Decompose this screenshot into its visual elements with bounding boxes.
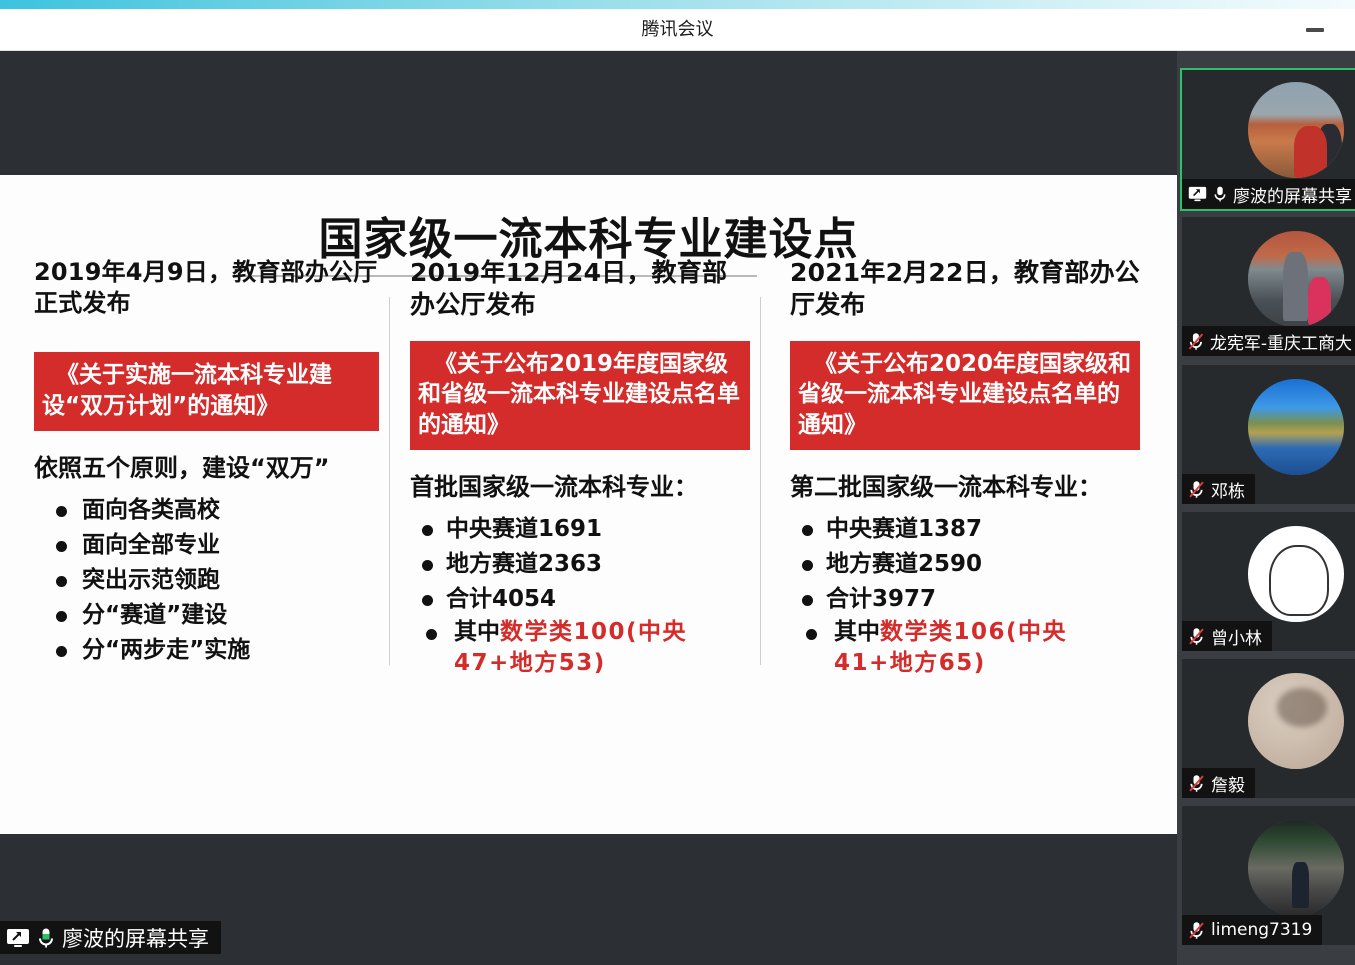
accent-gradient-strip — [0, 0, 1355, 9]
participant-namebar: 廖波的屏幕共享 — [1182, 179, 1355, 209]
mic-muted-icon — [1188, 921, 1205, 940]
participant-namebar: 曾小林 — [1182, 621, 1272, 651]
screen-share-icon — [1188, 186, 1207, 202]
list-item: 中央赛道1387 — [790, 512, 1140, 547]
tencent-meeting-window: 腾讯会议 国家级一流本科专业建设点 2019年4月9日，教育部办公厅正式发布 《… — [0, 0, 1355, 965]
participant-tile[interactable]: 廖波的屏幕共享 — [1180, 68, 1355, 211]
shared-slide: 国家级一流本科专业建设点 2019年4月9日，教育部办公厅正式发布 《关于实施一… — [0, 175, 1177, 834]
column-1-notice: 《关于实施一流本科专业建设“双万计划”的通知》 — [34, 352, 379, 431]
mic-muted-icon — [1188, 332, 1204, 351]
participant-name: 詹毅 — [1211, 771, 1245, 796]
mic-on-icon — [37, 927, 55, 949]
column-3-lead: 第二批国家级一流本科专业： — [790, 472, 1140, 502]
highlight-prefix: 其中 — [454, 619, 500, 645]
participant-tile[interactable]: limeng7319 — [1182, 806, 1355, 945]
list-item: 分“赛道”建设 — [34, 598, 379, 633]
column-1-date: 2019年4月9日，教育部办公厅正式发布 — [34, 257, 379, 318]
shared-screen-stage[interactable]: 国家级一流本科专业建设点 2019年4月9日，教育部办公厅正式发布 《关于实施一… — [0, 51, 1177, 965]
slide-column-3: 2021年2月22日，教育部办公厅发布 《关于公布2020年度国家级和省级一流本… — [790, 257, 1140, 679]
list-item: 合计4054 — [410, 582, 750, 617]
list-item: 突出示范领跑 — [34, 563, 379, 598]
column-3-bullets: 中央赛道1387 地方赛道2590 合计3977 其中数学类106(中央41+地… — [790, 512, 1140, 679]
participant-namebar: 龙宪军-重庆工商大 — [1182, 326, 1355, 356]
mic-muted-icon — [1188, 774, 1205, 793]
screen-share-badge: 廖波的屏幕共享 — [0, 921, 221, 954]
avatar — [1248, 379, 1344, 475]
column-1-lead: 依照五个原则，建设“双万” — [34, 453, 379, 483]
column-3-date: 2021年2月22日，教育部办公厅发布 — [790, 257, 1140, 321]
avatar — [1248, 820, 1344, 916]
list-item-highlight: 其中数学类106(中央41+地方65) — [790, 617, 1140, 680]
participant-name: 龙宪军-重庆工商大 — [1210, 329, 1352, 354]
avatar — [1248, 526, 1344, 622]
participant-name: 邓栋 — [1211, 477, 1245, 502]
participant-tile[interactable]: 龙宪军-重庆工商大 — [1182, 217, 1355, 356]
participant-rail[interactable]: 廖波的屏幕共享 龙宪军-重庆工商大 — [1177, 51, 1355, 965]
screen-share-icon — [6, 928, 30, 948]
avatar — [1248, 231, 1344, 327]
participant-namebar: 詹毅 — [1182, 768, 1255, 798]
column-1-bullets: 面向各类高校 面向全部专业 突出示范领跑 分“赛道”建设 分“两步走”实施 — [34, 493, 379, 668]
screen-share-presenter-name: 廖波的屏幕共享 — [62, 923, 209, 953]
mic-on-icon — [1213, 185, 1227, 203]
list-item: 面向全部专业 — [34, 528, 379, 563]
highlight-prefix: 其中 — [834, 619, 880, 645]
list-item-highlight: 其中数学类100(中央47+地方53) — [410, 617, 750, 680]
participant-name: limeng7319 — [1211, 920, 1312, 940]
participant-tile[interactable]: 曾小林 — [1182, 512, 1355, 651]
participant-name: 曾小林 — [1211, 624, 1262, 649]
column-3-notice: 《关于公布2020年度国家级和省级一流本科专业建设点名单的通知》 — [790, 341, 1140, 450]
avatar — [1248, 673, 1344, 769]
list-item: 地方赛道2363 — [410, 547, 750, 582]
column-2-bullets: 中央赛道1691 地方赛道2363 合计4054 其中数学类100(中央47+地… — [410, 512, 750, 679]
column-divider-2 — [760, 297, 761, 665]
participant-namebar: 邓栋 — [1182, 474, 1255, 504]
list-item: 中央赛道1691 — [410, 512, 750, 547]
participant-tile[interactable]: 詹毅 — [1182, 659, 1355, 798]
mic-muted-icon — [1188, 480, 1205, 499]
slide-column-2: 2019年12月24日，教育部办公厅发布 《关于公布2019年度国家级和省级一流… — [410, 257, 750, 679]
avatar — [1248, 82, 1344, 178]
minimize-button[interactable] — [1295, 9, 1335, 51]
participant-namebar: limeng7319 — [1182, 915, 1322, 945]
participant-name: 廖波的屏幕共享 — [1233, 182, 1352, 207]
column-2-date: 2019年12月24日，教育部办公厅发布 — [410, 257, 750, 321]
minimize-icon — [1306, 28, 1324, 32]
mic-muted-icon — [1188, 627, 1205, 646]
slide-column-1: 2019年4月9日，教育部办公厅正式发布 《关于实施一流本科专业建设“双万计划”… — [34, 257, 379, 668]
column-divider-1 — [389, 297, 390, 665]
list-item: 合计3977 — [790, 582, 1140, 617]
column-2-notice: 《关于公布2019年度国家级和省级一流本科专业建设点名单的通知》 — [410, 341, 750, 450]
app-title: 腾讯会议 — [0, 9, 1355, 51]
window-title-bar: 腾讯会议 — [0, 9, 1355, 51]
list-item: 面向各类高校 — [34, 493, 379, 528]
column-2-lead: 首批国家级一流本科专业： — [410, 472, 750, 502]
list-item: 分“两步走”实施 — [34, 633, 379, 668]
list-item: 地方赛道2590 — [790, 547, 1140, 582]
participant-rail-scrollbar[interactable] — [1350, 51, 1354, 965]
participant-tile[interactable]: 邓栋 — [1182, 365, 1355, 504]
